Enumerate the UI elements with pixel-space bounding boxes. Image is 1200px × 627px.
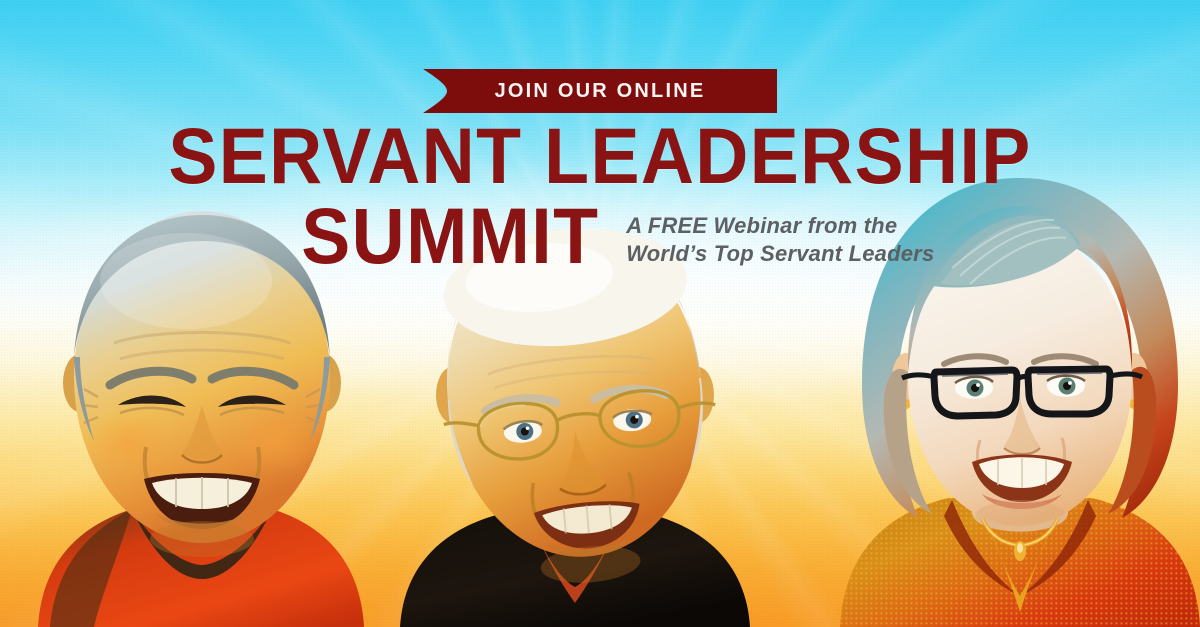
- ribbon-banner: JOIN OUR ONLINE: [423, 69, 777, 113]
- portrait-right-speaker: [840, 172, 1200, 627]
- promo-banner: JOIN OUR ONLINE SERVANT LEADERSHIP SUMMI…: [0, 0, 1200, 627]
- portrait-left-speaker: [36, 207, 366, 627]
- portrait-center-speaker: [400, 227, 750, 627]
- ribbon-label: JOIN OUR ONLINE: [423, 69, 777, 113]
